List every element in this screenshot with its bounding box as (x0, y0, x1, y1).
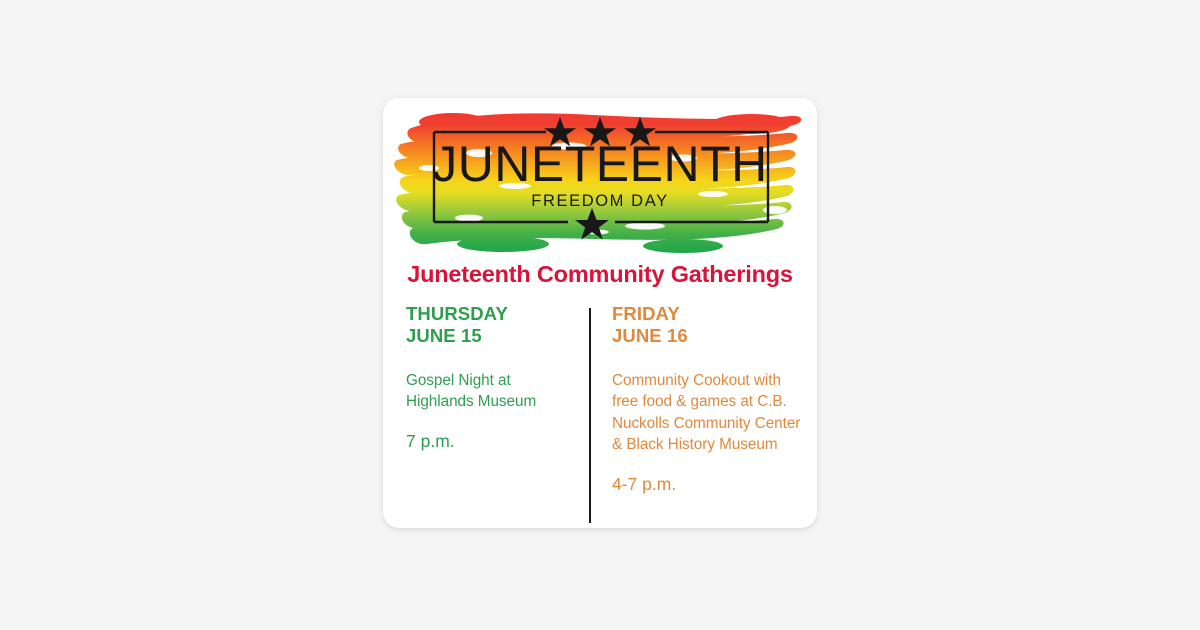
event-day-name: FRIDAY (612, 303, 680, 324)
column-divider (589, 308, 591, 523)
event-time: 7 p.m. (406, 430, 581, 453)
event-time: 4-7 p.m. (612, 473, 807, 496)
event-day-date: JUNE 16 (612, 325, 807, 347)
event-column-friday: FRIDAY JUNE 16 Community Cookout with fr… (612, 303, 807, 496)
event-day-date: JUNE 15 (406, 325, 581, 347)
page-title: Juneteenth Community Gatherings (383, 261, 817, 288)
event-day-name: THURSDAY (406, 303, 508, 324)
banner-subtitle-text: FREEDOM DAY (531, 192, 668, 210)
event-card: JUNETEENTH FREEDOM DAY Juneteenth Commun… (383, 98, 817, 528)
event-description: Community Cookout with free food & games… (612, 370, 807, 456)
juneteenth-banner-image: JUNETEENTH FREEDOM DAY (383, 98, 817, 256)
event-day-heading: THURSDAY JUNE 15 (406, 303, 581, 347)
events-columns: THURSDAY JUNE 15 Gospel Night at Highlan… (383, 303, 817, 528)
event-day-heading: FRIDAY JUNE 16 (612, 303, 807, 347)
event-column-thursday: THURSDAY JUNE 15 Gospel Night at Highlan… (406, 303, 581, 453)
event-description: Gospel Night at Highlands Museum (406, 370, 581, 413)
banner-wordmark-text: JUNETEENTH (432, 136, 768, 192)
juneteenth-banner-graphic: JUNETEENTH FREEDOM DAY (383, 98, 817, 256)
